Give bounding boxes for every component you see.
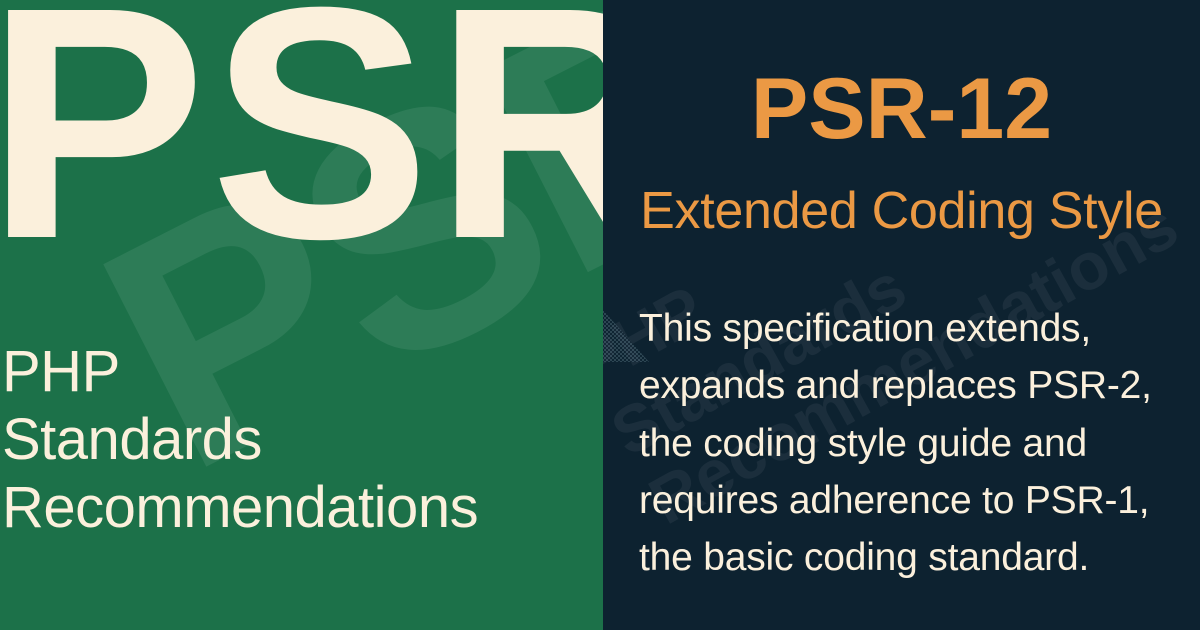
lockup-line-standards: Standards — [2, 406, 478, 474]
lockup-line-recommendations: Recommendations — [2, 474, 478, 542]
psr-wordmark: PSR — [0, 0, 603, 288]
description-line-1: This specification extends, — [639, 300, 1183, 357]
description-line-5: the basic coding standard. — [639, 529, 1183, 586]
left-brand-panel: PSR PSR PHP Standards Recommendations — [0, 0, 603, 630]
spec-description: This specification extends, expands and … — [639, 300, 1183, 587]
php-standards-lockup: PHP Standards Recommendations — [2, 338, 478, 542]
description-line-3: the coding style guide and — [639, 415, 1183, 472]
lockup-line-php: PHP — [2, 338, 478, 406]
spec-subtitle: Extended Coding Style — [603, 185, 1200, 237]
spec-title: PSR-12 — [603, 66, 1200, 152]
description-line-2: expands and replaces PSR-2, — [639, 357, 1183, 414]
right-content-panel: PHP Standards Recommendations PSR-12 Ext… — [603, 0, 1200, 630]
description-line-4: requires adherence to PSR-1, — [639, 472, 1183, 529]
psr-social-card: PSR PSR PHP Standards Recommendations PH… — [0, 0, 1200, 630]
